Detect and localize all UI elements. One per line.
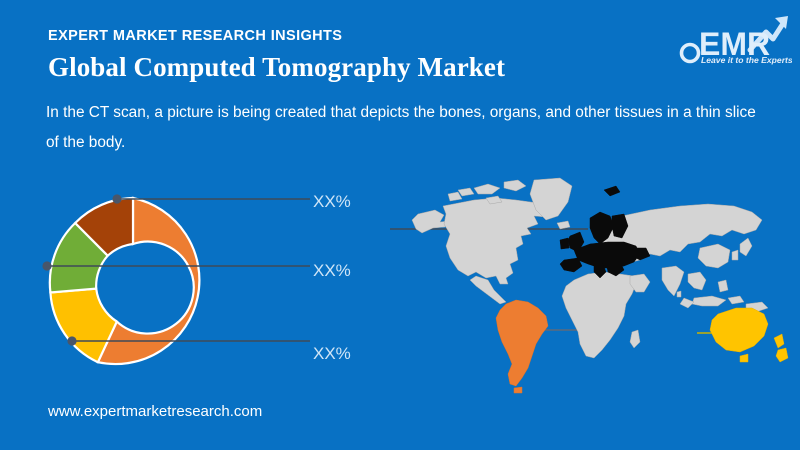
pct-label-1: XX% xyxy=(313,192,351,212)
ring-icon xyxy=(682,45,699,62)
website-url[interactable]: www.expertmarketresearch.com xyxy=(48,403,262,420)
world-map[interactable] xyxy=(388,172,800,400)
pct-label-2: XX% xyxy=(313,261,351,281)
pct-label-3: XX% xyxy=(313,344,351,364)
page-title: Global Computed Tomography Market xyxy=(48,52,505,83)
map-region-south-america xyxy=(496,300,548,393)
donut-chart[interactable] xyxy=(28,178,238,384)
infographic-canvas: EXPERT MARKET RESEARCH INSIGHTS Global C… xyxy=(0,0,800,450)
intro-paragraph: In the CT scan, a picture is being creat… xyxy=(46,98,762,158)
logo-tagline: Leave it to the Experts! xyxy=(701,55,792,65)
emr-logo[interactable]: EMR Leave it to the Experts! xyxy=(676,8,792,70)
map-region-australia-nz xyxy=(710,308,788,362)
eyebrow-label: EXPERT MARKET RESEARCH INSIGHTS xyxy=(48,28,342,44)
